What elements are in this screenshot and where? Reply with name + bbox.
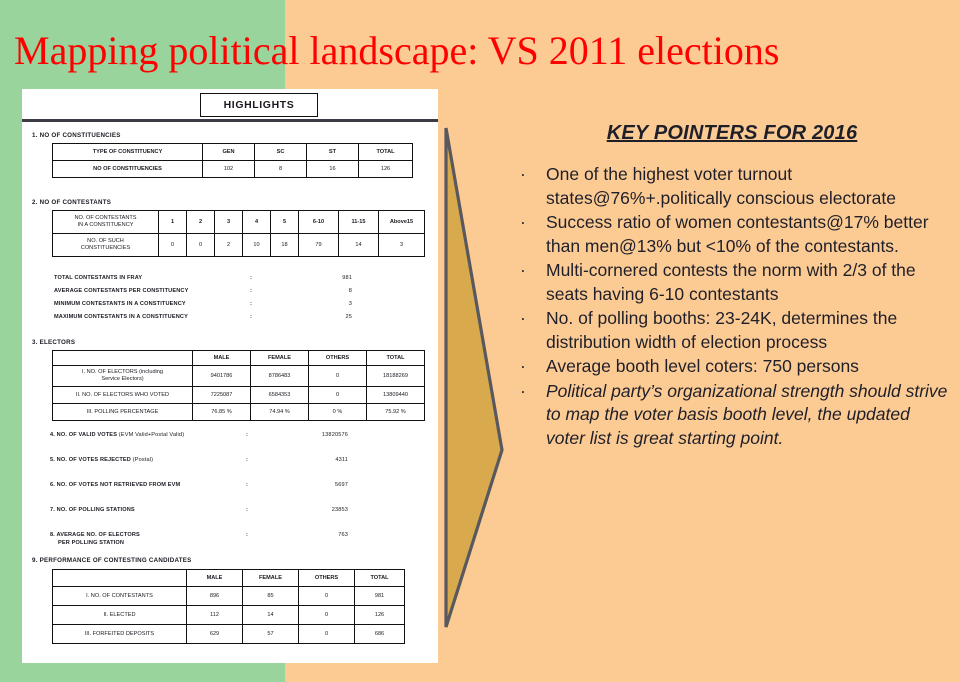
bucket-4: 4 (243, 211, 271, 234)
cell-male: 7225087 (193, 387, 251, 404)
separator: : (246, 482, 248, 488)
cell-male: 112 (187, 606, 243, 625)
list-item: · Success ratio of women contestants@17%… (512, 211, 952, 258)
candidate-performance-table: MALE FEMALE OTHERS TOTAL I. NO. OF CONTE… (52, 569, 405, 644)
col-gen: GEN (203, 144, 255, 161)
header-divider (22, 119, 438, 122)
constituencies-table: TYPE OF CONSTITUENCY GEN SC ST TOTAL NO … (52, 143, 413, 178)
bucket-1: 1 (159, 211, 187, 234)
label: MAXIMUM CONTESTANTS IN A CONSTITUENCY (54, 314, 188, 320)
col-blank (53, 351, 193, 366)
list-item-text: Average booth level coters: 750 persons (546, 356, 859, 376)
cell-male: 9401786 (193, 366, 251, 387)
cell-total: 13809440 (367, 387, 425, 404)
bullet-icon: · (520, 355, 526, 379)
separator: : (250, 301, 252, 307)
separator: : (250, 314, 252, 320)
value: 5697 (272, 482, 348, 488)
cell-female: 8786483 (251, 366, 309, 387)
col-male: MALE (193, 351, 251, 366)
value: 763 (272, 532, 348, 538)
list-item: · Average booth level coters: 750 person… (512, 355, 952, 379)
label: 6. NO. OF VOTES NOT RETRIEVED FROM EVM (50, 482, 180, 488)
bullet-icon: · (520, 259, 526, 283)
count-2: 0 (187, 234, 215, 257)
cell-male: 76.85 % (193, 404, 251, 421)
label-main: 5. NO. OF VOTES REJECTED (50, 457, 131, 463)
key-pointers-panel: KEY POINTERS FOR 2016 · One of the highe… (512, 122, 952, 451)
cell-others: 0 (309, 387, 367, 404)
row-label-electors: I. NO. OF ELECTORS (including Service El… (53, 366, 193, 387)
cell-others: 0 (299, 587, 355, 606)
cell-sc: 8 (255, 161, 307, 178)
col-female: FEMALE (243, 570, 299, 587)
label: 8. AVERAGE NO. OF ELECTORS (50, 532, 140, 538)
label: TOTAL CONTESTANTS IN FRAY (54, 275, 142, 281)
cell-male: 629 (187, 625, 243, 644)
bullet-icon: · (520, 307, 526, 331)
bucket-11-15: 11-15 (339, 211, 379, 234)
separator: : (246, 457, 248, 463)
bucket-5: 5 (271, 211, 299, 234)
count-4: 10 (243, 234, 271, 257)
bucket-6-10: 6-10 (299, 211, 339, 234)
count-11-15: 14 (339, 234, 379, 257)
cell-female: 74.94 % (251, 404, 309, 421)
count-above15: 3 (379, 234, 425, 257)
list-item: · Multi-cornered contests the norm with … (512, 259, 952, 306)
bucket-above15: Above15 (379, 211, 425, 234)
list-item-text: Success ratio of women contestants@17% b… (546, 212, 929, 256)
bucket-3: 3 (215, 211, 243, 234)
value: 8 (276, 288, 352, 294)
cell-total: 18188269 (367, 366, 425, 387)
key-pointers-list: · One of the highest voter turnout state… (512, 163, 952, 450)
value: 981 (276, 275, 352, 281)
contestants-distribution-table: NO. OF CONTESTANTS IN A CONSTITUENCY 1 2… (52, 210, 425, 257)
section-3-heading: 3. ELECTORS (32, 339, 75, 346)
list-item-text: Political party’s organizational strengt… (546, 381, 947, 448)
label-sub: (EVM Valid+Postal Valid) (119, 432, 184, 438)
row-label-polling-pct: III. POLLING PERCENTAGE (53, 404, 193, 421)
value: 25 (276, 314, 352, 320)
label: AVERAGE CONTESTANTS PER CONSTITUENCY (54, 288, 188, 294)
label: MINIMUM CONTESTANTS IN A CONSTITUENCY (54, 301, 186, 307)
cell-total: 126 (355, 606, 405, 625)
key-pointers-heading: KEY POINTERS FOR 2016 (512, 122, 952, 145)
label: 4. NO. OF VALID VOTES (EVM Valid+Postal … (50, 432, 184, 438)
cell-female: 14 (243, 606, 299, 625)
col-blank (53, 570, 187, 587)
count-6-10: 79 (299, 234, 339, 257)
section-9-heading: 9. PERFORMANCE OF CONTESTING CANDIDATES (32, 557, 192, 564)
row-label-voted: II. NO. OF ELECTORS WHO VOTED (53, 387, 193, 404)
col-female: FEMALE (251, 351, 309, 366)
row-label-line2: IN A CONSTITUENCY (78, 222, 134, 228)
table-row: II. NO. OF ELECTORS WHO VOTED 7225087 65… (53, 387, 425, 404)
col-others: OTHERS (309, 351, 367, 366)
highlights-document-card: HIGHLIGHTS 1. NO OF CONSTITUENCIES TYPE … (22, 89, 438, 663)
cell-gen: 102 (203, 161, 255, 178)
label: 7. NO. OF POLLING STATIONS (50, 507, 135, 513)
row-label-elected: II. ELECTED (53, 606, 187, 625)
row-label: NO OF CONSTITUENCIES (53, 161, 203, 178)
table-row: NO. OF SUCH CONSTITUENCIES 0 0 2 10 18 7… (53, 234, 425, 257)
highlights-heading-box: HIGHLIGHTS (200, 93, 318, 117)
table-row: NO OF CONSTITUENCIES 102 8 16 126 (53, 161, 413, 178)
table-row: III. POLLING PERCENTAGE 76.85 % 74.94 % … (53, 404, 425, 421)
cell-st: 16 (307, 161, 359, 178)
value: 13820576 (272, 432, 348, 438)
section-2-heading: 2. NO OF CONTESTANTS (32, 199, 111, 206)
list-item: · No. of polling booths: 23-24K, determi… (512, 307, 952, 354)
page-title: Mapping political landscape: VS 2011 ele… (14, 28, 944, 74)
list-item-text: One of the highest voter turnout states@… (546, 164, 896, 208)
right-arrow-shape (440, 120, 518, 635)
value: 23853 (272, 507, 348, 513)
bucket-2: 2 (187, 211, 215, 234)
row-label-line1: I. NO. OF ELECTORS (including (82, 369, 163, 375)
col-type: TYPE OF CONSTITUENCY (53, 144, 203, 161)
table-row: I. NO. OF CONTESTANTS 896 85 0 981 (53, 587, 405, 606)
bullet-icon: · (520, 211, 526, 235)
table-row: TYPE OF CONSTITUENCY GEN SC ST TOTAL (53, 144, 413, 161)
cell-female: 85 (243, 587, 299, 606)
col-total: TOTAL (367, 351, 425, 366)
table-row: MALE FEMALE OTHERS TOTAL (53, 570, 405, 587)
count-5: 18 (271, 234, 299, 257)
cell-others: 0 (299, 625, 355, 644)
row-label-forfeited: III. FORFEITED DEPOSITS (53, 625, 187, 644)
table-row: MALE FEMALE OTHERS TOTAL (53, 351, 425, 366)
cell-others: 0 % (309, 404, 367, 421)
electors-table: MALE FEMALE OTHERS TOTAL I. NO. OF ELECT… (52, 350, 425, 421)
cell-total: 686 (355, 625, 405, 644)
row-label-line1: NO. OF CONTESTANTS (74, 215, 136, 221)
table-row: NO. OF CONTESTANTS IN A CONSTITUENCY 1 2… (53, 211, 425, 234)
bullet-icon: · (520, 163, 526, 187)
cell-total: 981 (355, 587, 405, 606)
cell-others: 0 (299, 606, 355, 625)
cell-total: 126 (359, 161, 413, 178)
cell-others: 0 (309, 366, 367, 387)
col-male: MALE (187, 570, 243, 587)
label-sub: (Postal) (133, 457, 153, 463)
cell-male: 896 (187, 587, 243, 606)
count-3: 2 (215, 234, 243, 257)
separator: : (246, 532, 248, 538)
separator: : (246, 432, 248, 438)
list-item: · Political party’s organizational stren… (512, 380, 952, 451)
col-total: TOTAL (355, 570, 405, 587)
row-label-contestants: NO. OF CONTESTANTS IN A CONSTITUENCY (53, 211, 159, 234)
cell-female: 57 (243, 625, 299, 644)
cell-total: 75.92 % (367, 404, 425, 421)
value: 3 (276, 301, 352, 307)
row-label-line1: NO. OF SUCH (87, 238, 124, 244)
list-item-text: No. of polling booths: 23-24K, determine… (546, 308, 897, 352)
table-row: II. ELECTED 112 14 0 126 (53, 606, 405, 625)
separator: : (250, 288, 252, 294)
section-1-heading: 1. NO OF CONSTITUENCIES (32, 132, 121, 139)
cell-female: 6584353 (251, 387, 309, 404)
col-total: TOTAL (359, 144, 413, 161)
label-line2: PER POLLING STATION (58, 540, 124, 546)
separator: : (246, 507, 248, 513)
list-item: · One of the highest voter turnout state… (512, 163, 952, 210)
highlights-label: HIGHLIGHTS (224, 99, 295, 111)
col-others: OTHERS (299, 570, 355, 587)
table-row: III. FORFEITED DEPOSITS 629 57 0 686 (53, 625, 405, 644)
count-1: 0 (159, 234, 187, 257)
col-st: ST (307, 144, 359, 161)
bullet-icon: · (520, 380, 526, 404)
row-label-line2: CONSTITUENCIES (81, 245, 130, 251)
separator: : (250, 275, 252, 281)
col-sc: SC (255, 144, 307, 161)
table-row: I. NO. OF ELECTORS (including Service El… (53, 366, 425, 387)
row-label-such: NO. OF SUCH CONSTITUENCIES (53, 234, 159, 257)
row-label-contestants: I. NO. OF CONTESTANTS (53, 587, 187, 606)
list-item-text: Multi-cornered contests the norm with 2/… (546, 260, 916, 304)
label: 5. NO. OF VOTES REJECTED (Postal) (50, 457, 153, 463)
label-main: 4. NO. OF VALID VOTES (50, 432, 117, 438)
value: 4311 (272, 457, 348, 463)
row-label-line2: Service Electors) (101, 376, 143, 382)
